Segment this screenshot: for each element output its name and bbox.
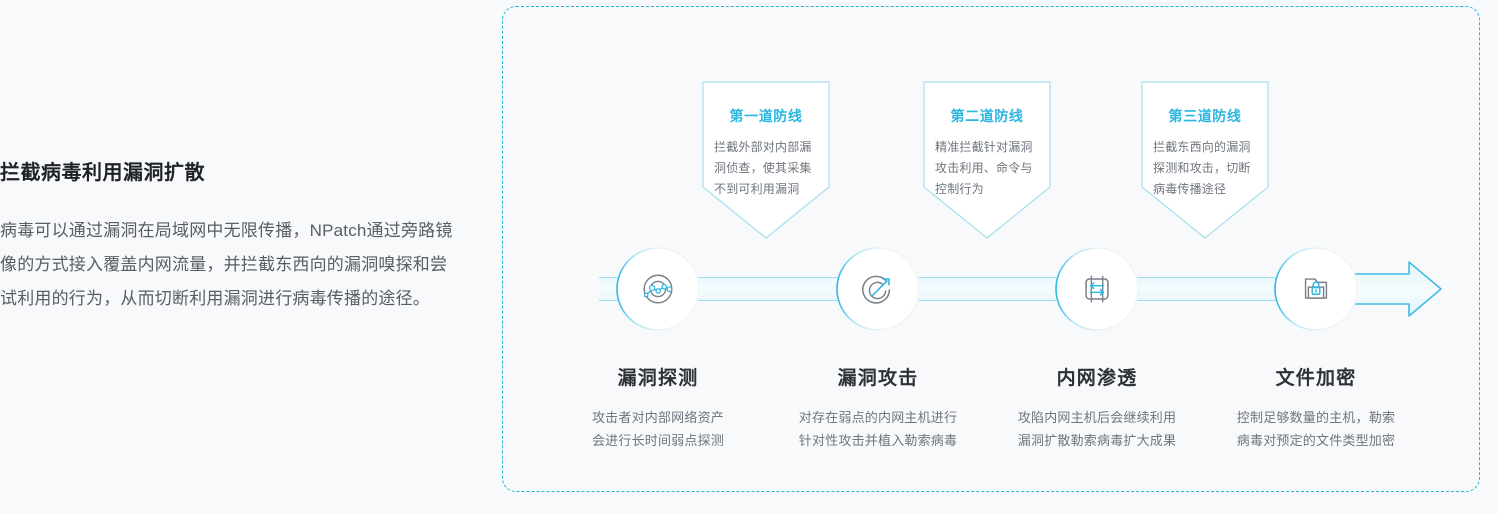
stage-description-line-2: 会进行长时间弱点探测 [538, 429, 778, 452]
defense-line-callout-3: 第三道防线 拦截东西向的漏洞探测和攻击，切断病毒传播途径 [1141, 81, 1269, 239]
file-lock-icon [1297, 270, 1335, 308]
stage-description-line-1: 控制足够数量的主机，勒索 [1196, 406, 1436, 429]
stage-caption-vulnerability-attack: 漏洞攻击 对存在弱点的内网主机进行 针对性攻击并植入勒索病毒 [758, 363, 998, 452]
stage-node-file-encryption[interactable] [1274, 247, 1358, 331]
stage-caption-file-encryption: 文件加密 控制足够数量的主机，勒索 病毒对预定的文件类型加密 [1196, 363, 1436, 452]
lateral-movement-icon [1078, 270, 1116, 308]
stage-caption-vulnerability-scan: 漏洞探测 攻击者对内部网络资产 会进行长时间弱点探测 [538, 363, 778, 452]
page-title: 拦截病毒利用漏洞扩散 [0, 160, 462, 186]
stage-description-line-2: 病毒对预定的文件类型加密 [1196, 429, 1436, 452]
intro-panel: 拦截病毒利用漏洞扩散 病毒可以通过漏洞在局域网中无限传播，NPatch通过旁路镜… [0, 160, 462, 316]
defense-line-callout-1: 第一道防线 拦截外部对内部漏洞侦查，使其采集不到可利用漏洞 [702, 81, 830, 239]
radar-scan-icon [639, 270, 677, 308]
stage-caption-lateral-movement: 内网渗透 攻陷内网主机后会继续利用 漏洞扩散勒索病毒扩大成果 [977, 363, 1217, 452]
stage-title: 文件加密 [1196, 363, 1436, 390]
stage-description: 攻陷内网主机后会继续利用 漏洞扩散勒索病毒扩大成果 [977, 406, 1217, 452]
stage-description-line-1: 对存在弱点的内网主机进行 [758, 406, 998, 429]
stage-title: 内网渗透 [977, 363, 1217, 390]
target-arrow-icon [859, 270, 897, 308]
stage-description-line-1: 攻陷内网主机后会继续利用 [977, 406, 1217, 429]
attack-chain-diagram: 第一道防线 拦截外部对内部漏洞侦查，使其采集不到可利用漏洞 第二道防线 精准拦截… [502, 6, 1480, 492]
callout-description: 精准拦截针对漏洞攻击利用、命令与控制行为 [931, 137, 1043, 200]
callout-title: 第一道防线 [710, 107, 822, 125]
stage-description-line-2: 漏洞扩散勒索病毒扩大成果 [977, 429, 1217, 452]
stage-node-vulnerability-scan[interactable] [616, 247, 700, 331]
page-description: 病毒可以通过漏洞在局域网中无限传播，NPatch通过旁路镜像的方式接入覆盖内网流… [0, 214, 462, 316]
defense-line-callout-2: 第二道防线 精准拦截针对漏洞攻击利用、命令与控制行为 [923, 81, 1051, 239]
stage-description: 对存在弱点的内网主机进行 针对性攻击并植入勒索病毒 [758, 406, 998, 452]
stage-node-vulnerability-attack[interactable] [836, 247, 920, 331]
stage-description: 控制足够数量的主机，勒索 病毒对预定的文件类型加密 [1196, 406, 1436, 452]
callout-description: 拦截东西向的漏洞探测和攻击，切断病毒传播途径 [1149, 137, 1261, 200]
callout-description: 拦截外部对内部漏洞侦查，使其采集不到可利用漏洞 [710, 137, 822, 200]
stage-title: 漏洞探测 [538, 363, 778, 390]
stage-description: 攻击者对内部网络资产 会进行长时间弱点探测 [538, 406, 778, 452]
stage-description-line-1: 攻击者对内部网络资产 [538, 406, 778, 429]
stage-title: 漏洞攻击 [758, 363, 998, 390]
callout-title: 第二道防线 [931, 107, 1043, 125]
stage-node-lateral-movement[interactable] [1055, 247, 1139, 331]
stage-description-line-2: 针对性攻击并植入勒索病毒 [758, 429, 998, 452]
callout-title: 第三道防线 [1149, 107, 1261, 125]
